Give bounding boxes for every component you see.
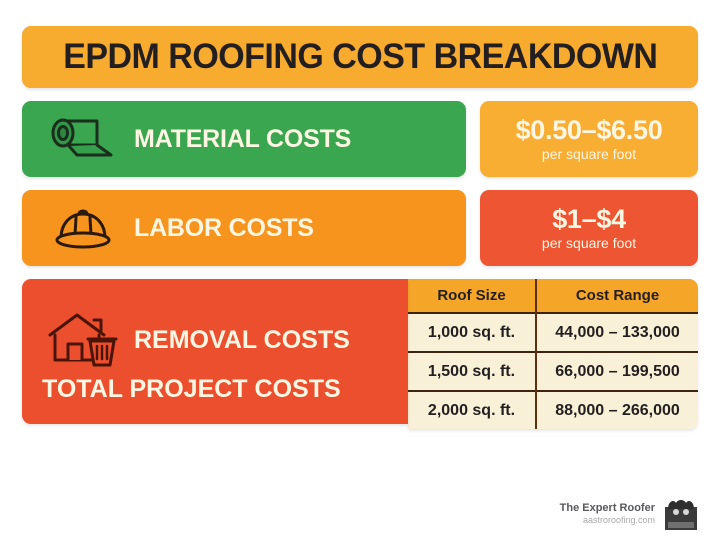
hard-hat-icon (40, 197, 126, 259)
material-costs-panel: MATERIAL COSTS (22, 101, 466, 177)
infographic-root: EPDM ROOFING COST BREAKDOWN MATERIAL COS… (0, 0, 720, 541)
cell-cost-range: 88,000 – 266,000 (536, 391, 698, 429)
cost-table: Roof Size Cost Range 1,000 sq. ft. 44,00… (408, 279, 698, 429)
column-header-cost-range: Cost Range (536, 279, 698, 313)
labor-costs-panel: LABOR COSTS (22, 190, 466, 266)
material-price-value: $0.50–$6.50 (516, 116, 663, 144)
labor-costs-label: LABOR COSTS (134, 214, 314, 243)
page-title: EPDM ROOFING COST BREAKDOWN (63, 37, 657, 77)
removal-costs-line: REMOVAL COSTS (40, 305, 394, 375)
labor-price-unit: per square foot (542, 235, 636, 251)
cell-roof-size: 1,500 sq. ft. (408, 352, 536, 391)
roofer-logo-icon (664, 497, 698, 531)
material-costs-label: MATERIAL COSTS (134, 125, 351, 154)
bottom-section: REMOVAL COSTS TOTAL PROJECT COSTS Roof S… (22, 279, 698, 424)
material-price-unit: per square foot (542, 146, 636, 162)
title-bar: EPDM ROOFING COST BREAKDOWN (22, 26, 698, 88)
cell-roof-size: 2,000 sq. ft. (408, 391, 536, 429)
removal-total-panel: REMOVAL COSTS TOTAL PROJECT COSTS (22, 279, 408, 424)
cost-row-labor: LABOR COSTS $1–$4 per square foot (22, 190, 698, 266)
footer-text-block: The Expert Roofer aastroroofing.com (560, 502, 655, 527)
table-row: 1,000 sq. ft. 44,000 – 133,000 (408, 313, 698, 352)
cell-roof-size: 1,000 sq. ft. (408, 313, 536, 352)
removal-costs-label: REMOVAL COSTS (134, 326, 350, 355)
footer-brand-name: The Expert Roofer (560, 502, 655, 516)
footer-branding: The Expert Roofer aastroroofing.com (560, 497, 698, 531)
membrane-roll-icon (40, 108, 126, 170)
column-header-roof-size: Roof Size (408, 279, 536, 313)
material-costs-price: $0.50–$6.50 per square foot (480, 101, 698, 177)
cell-cost-range: 66,000 – 199,500 (536, 352, 698, 391)
table-row: 1,500 sq. ft. 66,000 – 199,500 (408, 352, 698, 391)
cost-row-material: MATERIAL COSTS $0.50–$6.50 per square fo… (22, 101, 698, 177)
house-removal-icon (40, 305, 126, 375)
cell-cost-range: 44,000 – 133,000 (536, 313, 698, 352)
footer-website-url: aastroroofing.com (560, 515, 655, 526)
total-project-costs-label: TOTAL PROJECT COSTS (42, 375, 341, 404)
table-header-row: Roof Size Cost Range (408, 279, 698, 313)
labor-costs-price: $1–$4 per square foot (480, 190, 698, 266)
labor-price-value: $1–$4 (552, 205, 626, 233)
table-row: 2,000 sq. ft. 88,000 – 266,000 (408, 391, 698, 429)
